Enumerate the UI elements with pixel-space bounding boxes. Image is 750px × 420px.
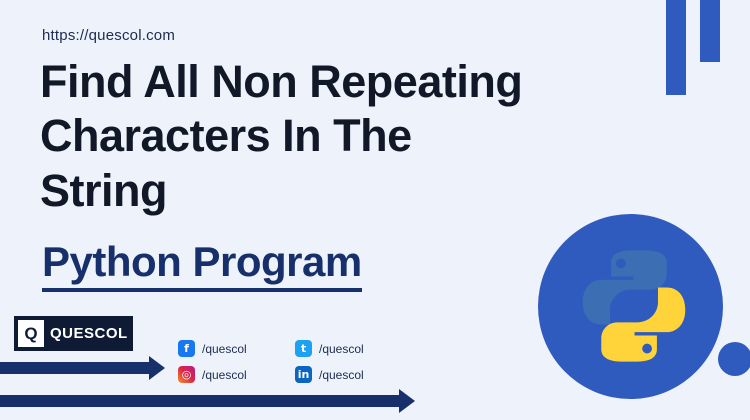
linkedin-icon: in	[295, 366, 312, 383]
social-row-1: f /quescol t /quescol	[178, 340, 408, 357]
arrow-head	[149, 356, 165, 380]
social-row-2: ◎ /quescol in /quescol	[178, 366, 408, 383]
headline-line-2: Characters In The	[40, 109, 640, 163]
decorative-bar-tall	[666, 0, 686, 95]
decorative-arrow-short	[0, 362, 165, 374]
site-url: https://quescol.com	[42, 27, 175, 44]
instagram-icon: ◎	[178, 366, 195, 383]
social-handle: /quescol	[202, 342, 247, 356]
python-icon	[574, 246, 694, 366]
logo-mark: Q	[18, 320, 44, 347]
arrow-shaft	[0, 395, 400, 407]
social-item-twitter[interactable]: t /quescol	[295, 340, 390, 357]
social-handle: /quescol	[319, 342, 364, 356]
page-title: Find All Non Repeating Characters In The…	[40, 55, 640, 218]
social-links: f /quescol t /quescol ◎ /quescol in /que…	[178, 340, 408, 392]
logo-wordmark: QUESCOL	[50, 325, 128, 342]
python-dot-accent	[718, 342, 750, 376]
social-item-facebook[interactable]: f /quescol	[178, 340, 273, 357]
banner-canvas: https://quescol.com Find All Non Repeati…	[0, 0, 750, 420]
social-handle: /quescol	[202, 368, 247, 382]
decorative-bar-short	[700, 0, 720, 62]
social-handle: /quescol	[319, 368, 364, 382]
brand-logo: Q QUESCOL	[14, 316, 133, 351]
python-logo-graphic	[528, 204, 750, 420]
facebook-icon: f	[178, 340, 195, 357]
social-item-linkedin[interactable]: in /quescol	[295, 366, 390, 383]
headline-line-1: Find All Non Repeating	[40, 55, 640, 109]
decorative-bars	[666, 0, 720, 95]
twitter-icon: t	[295, 340, 312, 357]
subtitle: Python Program	[42, 238, 362, 292]
social-item-instagram[interactable]: ◎ /quescol	[178, 366, 273, 383]
arrow-head	[399, 389, 415, 413]
decorative-arrow-long	[0, 395, 415, 407]
arrow-shaft	[0, 362, 150, 374]
